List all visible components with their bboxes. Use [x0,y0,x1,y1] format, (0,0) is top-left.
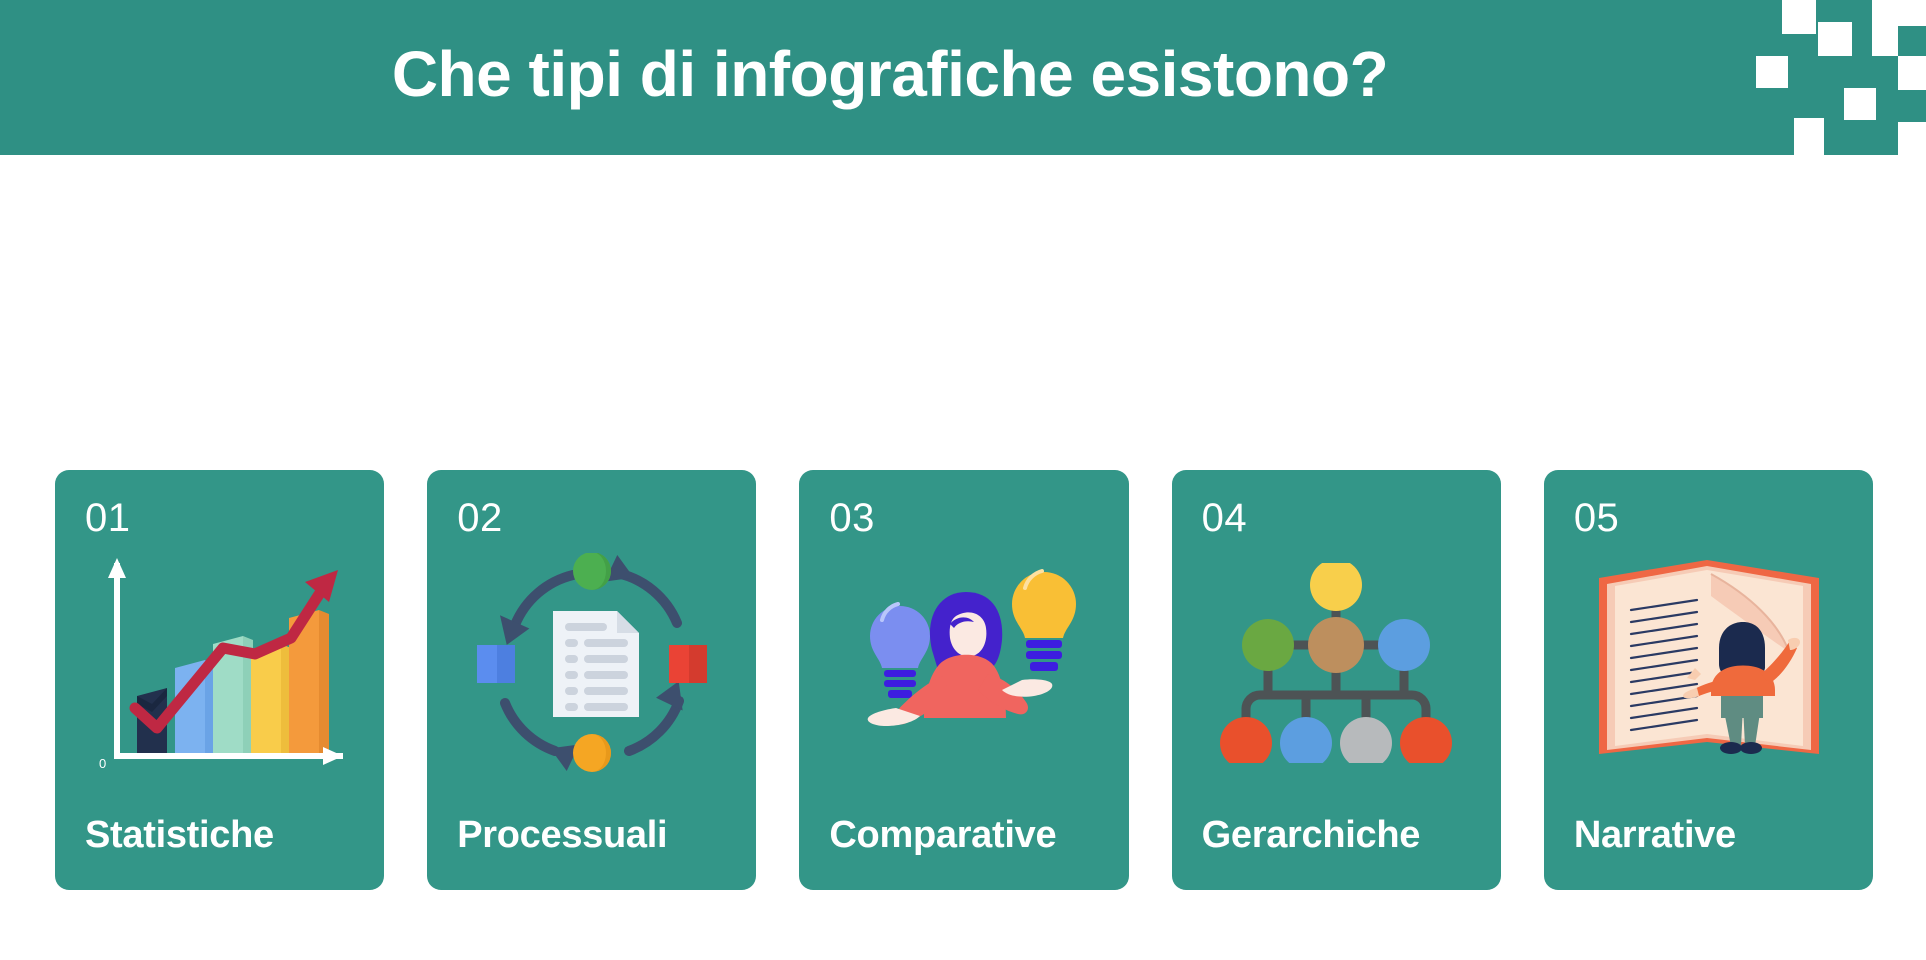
card-gerarchiche[interactable]: 04 [1172,470,1501,890]
pixel-decoration [1726,0,1926,155]
card-number: 03 [829,498,875,538]
card-label: Statistiche [85,816,274,854]
axis-origin-label: 0 [99,756,106,771]
tree-node [1400,717,1452,763]
card-processuali[interactable]: 02 [427,470,756,890]
process-cycle-icon [427,548,756,778]
pixel-square [1756,56,1788,88]
pixel-square [1844,88,1876,120]
card-label: Narrative [1574,816,1736,854]
card-label: Processuali [457,816,667,854]
card-statistiche[interactable]: 01 0 [55,470,384,890]
card-number: 02 [457,498,503,538]
pixel-square [1794,118,1824,155]
open-book-reader-icon [1544,548,1873,778]
card-comparative[interactable]: 03 [799,470,1128,890]
tree-node [1242,619,1294,671]
page-header: Che tipi di infografiche esistono? [0,0,1926,155]
bulb-right [1012,571,1076,671]
infographic-type-cards: 01 0 [55,470,1873,890]
card-number: 01 [85,498,131,538]
tree-node [1280,717,1332,763]
tree-node [1308,617,1364,673]
tree-node [1378,619,1430,671]
card-narrative[interactable]: 05 [1544,470,1873,890]
comparison-person-bulbs-icon [799,548,1128,778]
bulb-left [870,604,930,698]
tree-node [1220,717,1272,763]
card-label: Gerarchiche [1202,816,1420,854]
pixel-square [1898,56,1926,90]
tree-node [1340,717,1392,763]
card-number: 05 [1574,498,1620,538]
card-number: 04 [1202,498,1248,538]
page-title: Che tipi di infografiche esistono? [0,0,1780,155]
pixel-square [1898,0,1926,26]
bar-chart-growth-icon: 0 [55,548,384,778]
card-label: Comparative [829,816,1056,854]
pixel-square [1872,0,1898,56]
hierarchy-tree-icon [1172,548,1501,778]
pixel-square [1782,0,1816,34]
tree-node-root [1310,563,1362,611]
pixel-square [1898,122,1926,155]
pixel-square [1818,22,1852,56]
